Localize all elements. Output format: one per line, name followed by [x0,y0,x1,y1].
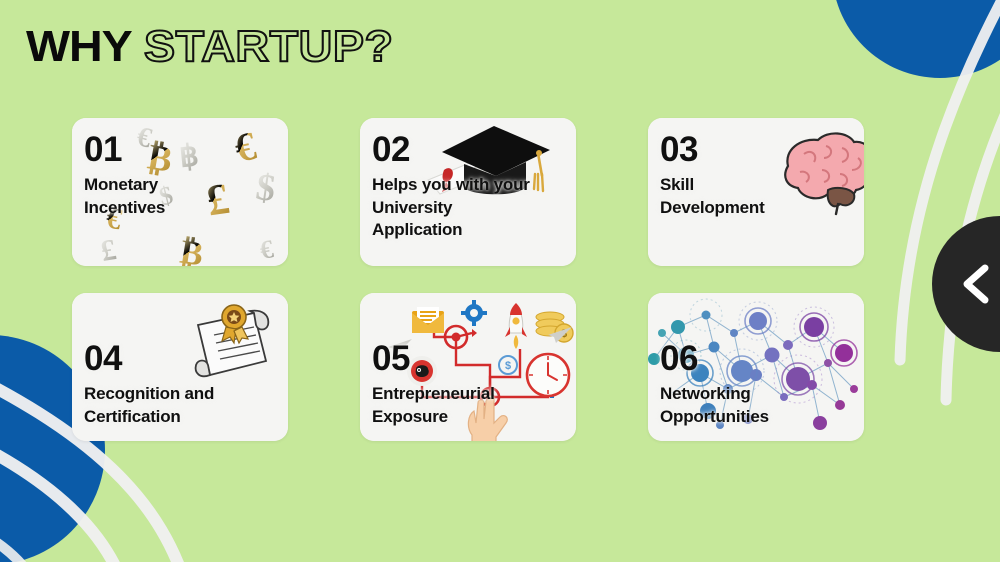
card-04-recognition-certification[interactable]: 04 Recognition and Certification [72,293,288,441]
benefits-card-grid: € ₿ ฿ € £ $ $ € £ ₿ € 01 Monet [72,118,860,438]
top-right-blue-circle [832,0,1000,78]
card-01-text: 01 Monetary Incentives [84,132,165,219]
svg-text:฿: ฿ [178,139,200,174]
card-06-label: Networking Opportunities [660,383,769,428]
card-06-text: 06 Networking Opportunities [660,341,769,428]
card-02-label: Helps you with your University Applicati… [372,174,530,242]
chevron-left-icon[interactable] [955,262,999,306]
card-02-text: 02 Helps you with your University Applic… [372,132,530,242]
card-01-monetary-incentives[interactable]: € ₿ ฿ € £ $ $ € £ ₿ € 01 Monet [72,118,288,266]
card-03-skill-development[interactable]: 03 Skill Development [648,118,864,266]
card-06-number: 06 [660,341,769,376]
svg-text:£: £ [99,233,119,266]
card-02-number: 02 [372,132,530,167]
card-05-label: Entrepreneurial Exposure [372,383,495,428]
svg-text:€: € [258,234,276,265]
card-02-university-application[interactable]: 02 Helps you with your University Applic… [360,118,576,266]
card-05-number: 05 [372,341,495,376]
card-01-label: Monetary Incentives [84,174,165,219]
svg-text:$: $ [561,328,567,340]
card-04-number: 04 [84,341,214,376]
card-04-text: 04 Recognition and Certification [84,341,214,428]
card-05-entrepreneurial-exposure[interactable]: $ [360,293,576,441]
arc-bottom-left-3 [0,505,42,562]
card-06-networking-opportunities[interactable]: 06 Networking Opportunities [648,293,864,441]
card-05-text: 05 Entrepreneurial Exposure [372,341,495,428]
svg-text:₿: ₿ [178,234,206,266]
card-04-label: Recognition and Certification [84,383,214,428]
card-03-text: 03 Skill Development [660,132,765,219]
slide-canvas: WHY STARTUP? [0,0,1000,562]
title-word-why: WHY [26,22,132,72]
slide-title: WHY STARTUP? [26,22,379,72]
svg-text:$: $ [253,166,278,210]
title-word-startup: STARTUP? [144,22,394,72]
card-01-number: 01 [84,132,165,167]
svg-text:$: $ [505,360,511,372]
card-03-number: 03 [660,132,765,167]
svg-text:€: € [231,123,260,171]
svg-text:£: £ [204,174,233,226]
arc-bottom-left-2 [0,420,128,562]
card-03-label: Skill Development [660,174,765,219]
